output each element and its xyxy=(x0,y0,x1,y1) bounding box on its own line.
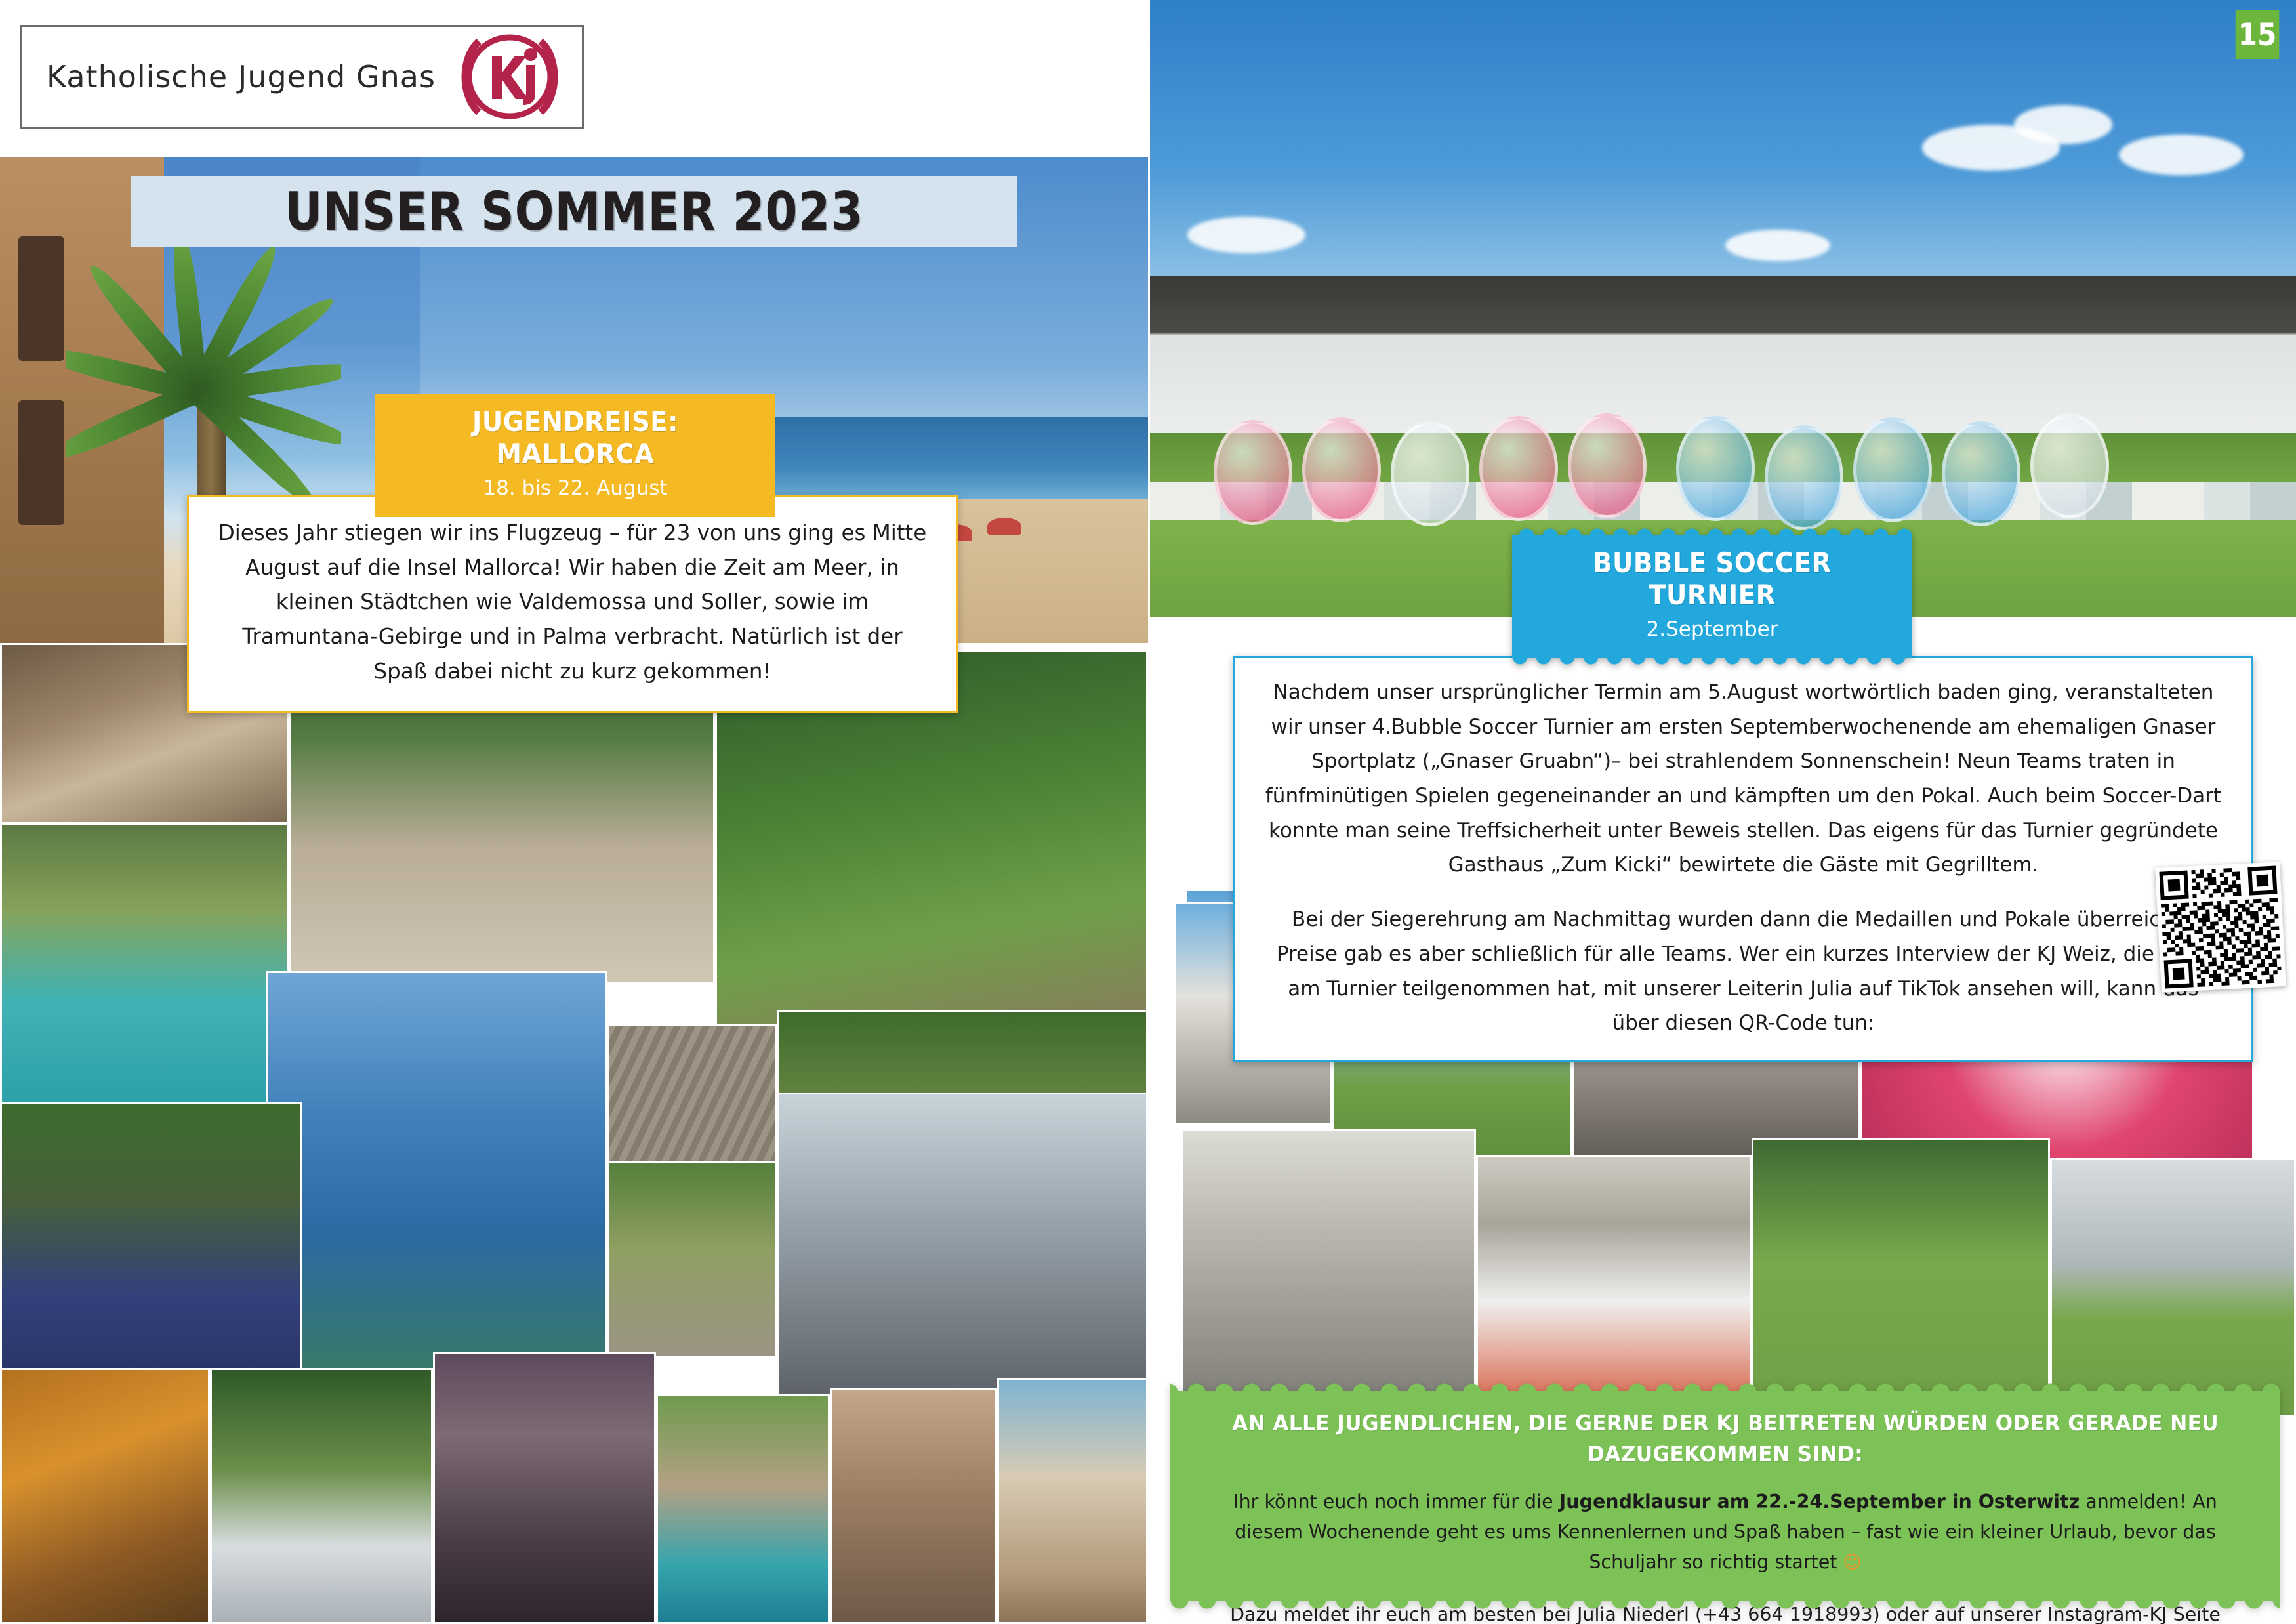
clouds xyxy=(1148,98,2296,269)
bubble-paragraph-1: Nachdem unser ursprünglicher Termin am 5… xyxy=(1261,675,2225,883)
page-title-bar: UNSER SOMMER 2023 xyxy=(131,176,1017,247)
org-name: Katholische Jugend Gnas xyxy=(47,59,436,94)
qr-code-tiktok[interactable] xyxy=(2155,862,2286,993)
photo-cove xyxy=(656,1394,830,1624)
mallorca-body-text: Dieses Jahr stiegen wir ins Flugzeug – f… xyxy=(216,516,928,688)
banner-bubblesoccer-title: BUBBLE SOCCER TURNIER xyxy=(1546,547,1878,611)
masthead: Katholische Jugend Gnas xyxy=(0,0,1148,157)
column-divider xyxy=(1148,0,1150,1624)
photo-girls-wall xyxy=(607,1161,777,1358)
left-column: Katholische Jugend Gnas xyxy=(0,0,1148,1624)
photo-canyoning-team xyxy=(0,1102,302,1378)
photo-jeep-roof xyxy=(210,1368,433,1624)
photo-paella xyxy=(0,1368,210,1624)
photo-team-group xyxy=(1181,1129,1476,1417)
footer-paragraph-2: Dazu meldet ihr euch am besten bei Julia… xyxy=(1202,1600,2249,1624)
footer-heading: AN ALLE JUGENDLICHEN, DIE GERNE DER KJ B… xyxy=(1228,1408,2223,1470)
banner-jugendreise-title: JUGENDREISE: MALLORCA xyxy=(409,406,741,470)
photo-pool xyxy=(0,823,289,1112)
banner-jugendreise: JUGENDREISE: MALLORCA 18. bis 22. August xyxy=(375,394,775,517)
text-card-bubblesoccer: Nachdem unser ursprünglicher Termin am 5… xyxy=(1233,656,2253,1062)
page-title: UNSER SOMMER 2023 xyxy=(285,181,863,242)
photo-cathedral xyxy=(433,1352,656,1624)
photo-dinner-couple xyxy=(997,1378,1148,1624)
photo-coast-viewpoint xyxy=(266,971,607,1404)
footer-callout: AN ALLE JUGENDLICHEN, DIE GERNE DER KJ B… xyxy=(1170,1391,2280,1601)
page-number-badge: 15 xyxy=(2236,10,2280,59)
photo-old-town xyxy=(830,1388,997,1624)
photo-team-bench xyxy=(1476,1155,1752,1417)
bubble-paragraph-2: Bei der Siegerehrung am Nachmittag wurde… xyxy=(1261,902,2225,1041)
banner-jugendreise-date: 18. bis 22. August xyxy=(395,476,756,500)
right-column: 15 BUBBLE SOCCER TURNIER 2.September Nac… xyxy=(1148,0,2296,1624)
text-card-mallorca: Dieses Jahr stiegen wir ins Flugzeug – f… xyxy=(187,495,958,713)
photo-line-marker xyxy=(2050,1158,2296,1417)
footer-event-highlight: Jugendklausur am 22.-24.September in Ost… xyxy=(1559,1491,2080,1512)
footer-paragraph-1: Ihr könnt euch noch immer für die Jugend… xyxy=(1202,1487,2249,1577)
hero-photo-bubblesoccer xyxy=(1148,0,2296,617)
logo-frame: Katholische Jugend Gnas xyxy=(20,25,584,129)
photo-bubble-roll xyxy=(1752,1138,2050,1417)
banner-bubblesoccer-date: 2.September xyxy=(1532,617,1893,641)
footer-text-lead: Ihr könnt euch noch immer für die xyxy=(1233,1491,1559,1512)
banner-bubblesoccer: BUBBLE SOCCER TURNIER 2.September xyxy=(1512,535,1912,658)
kj-logo-icon xyxy=(453,31,567,123)
smiley-icon: ☺ xyxy=(1843,1552,1861,1573)
photo-airport-hall xyxy=(777,1093,1148,1398)
magazine-page: Katholische Jugend Gnas xyxy=(0,0,2296,1624)
